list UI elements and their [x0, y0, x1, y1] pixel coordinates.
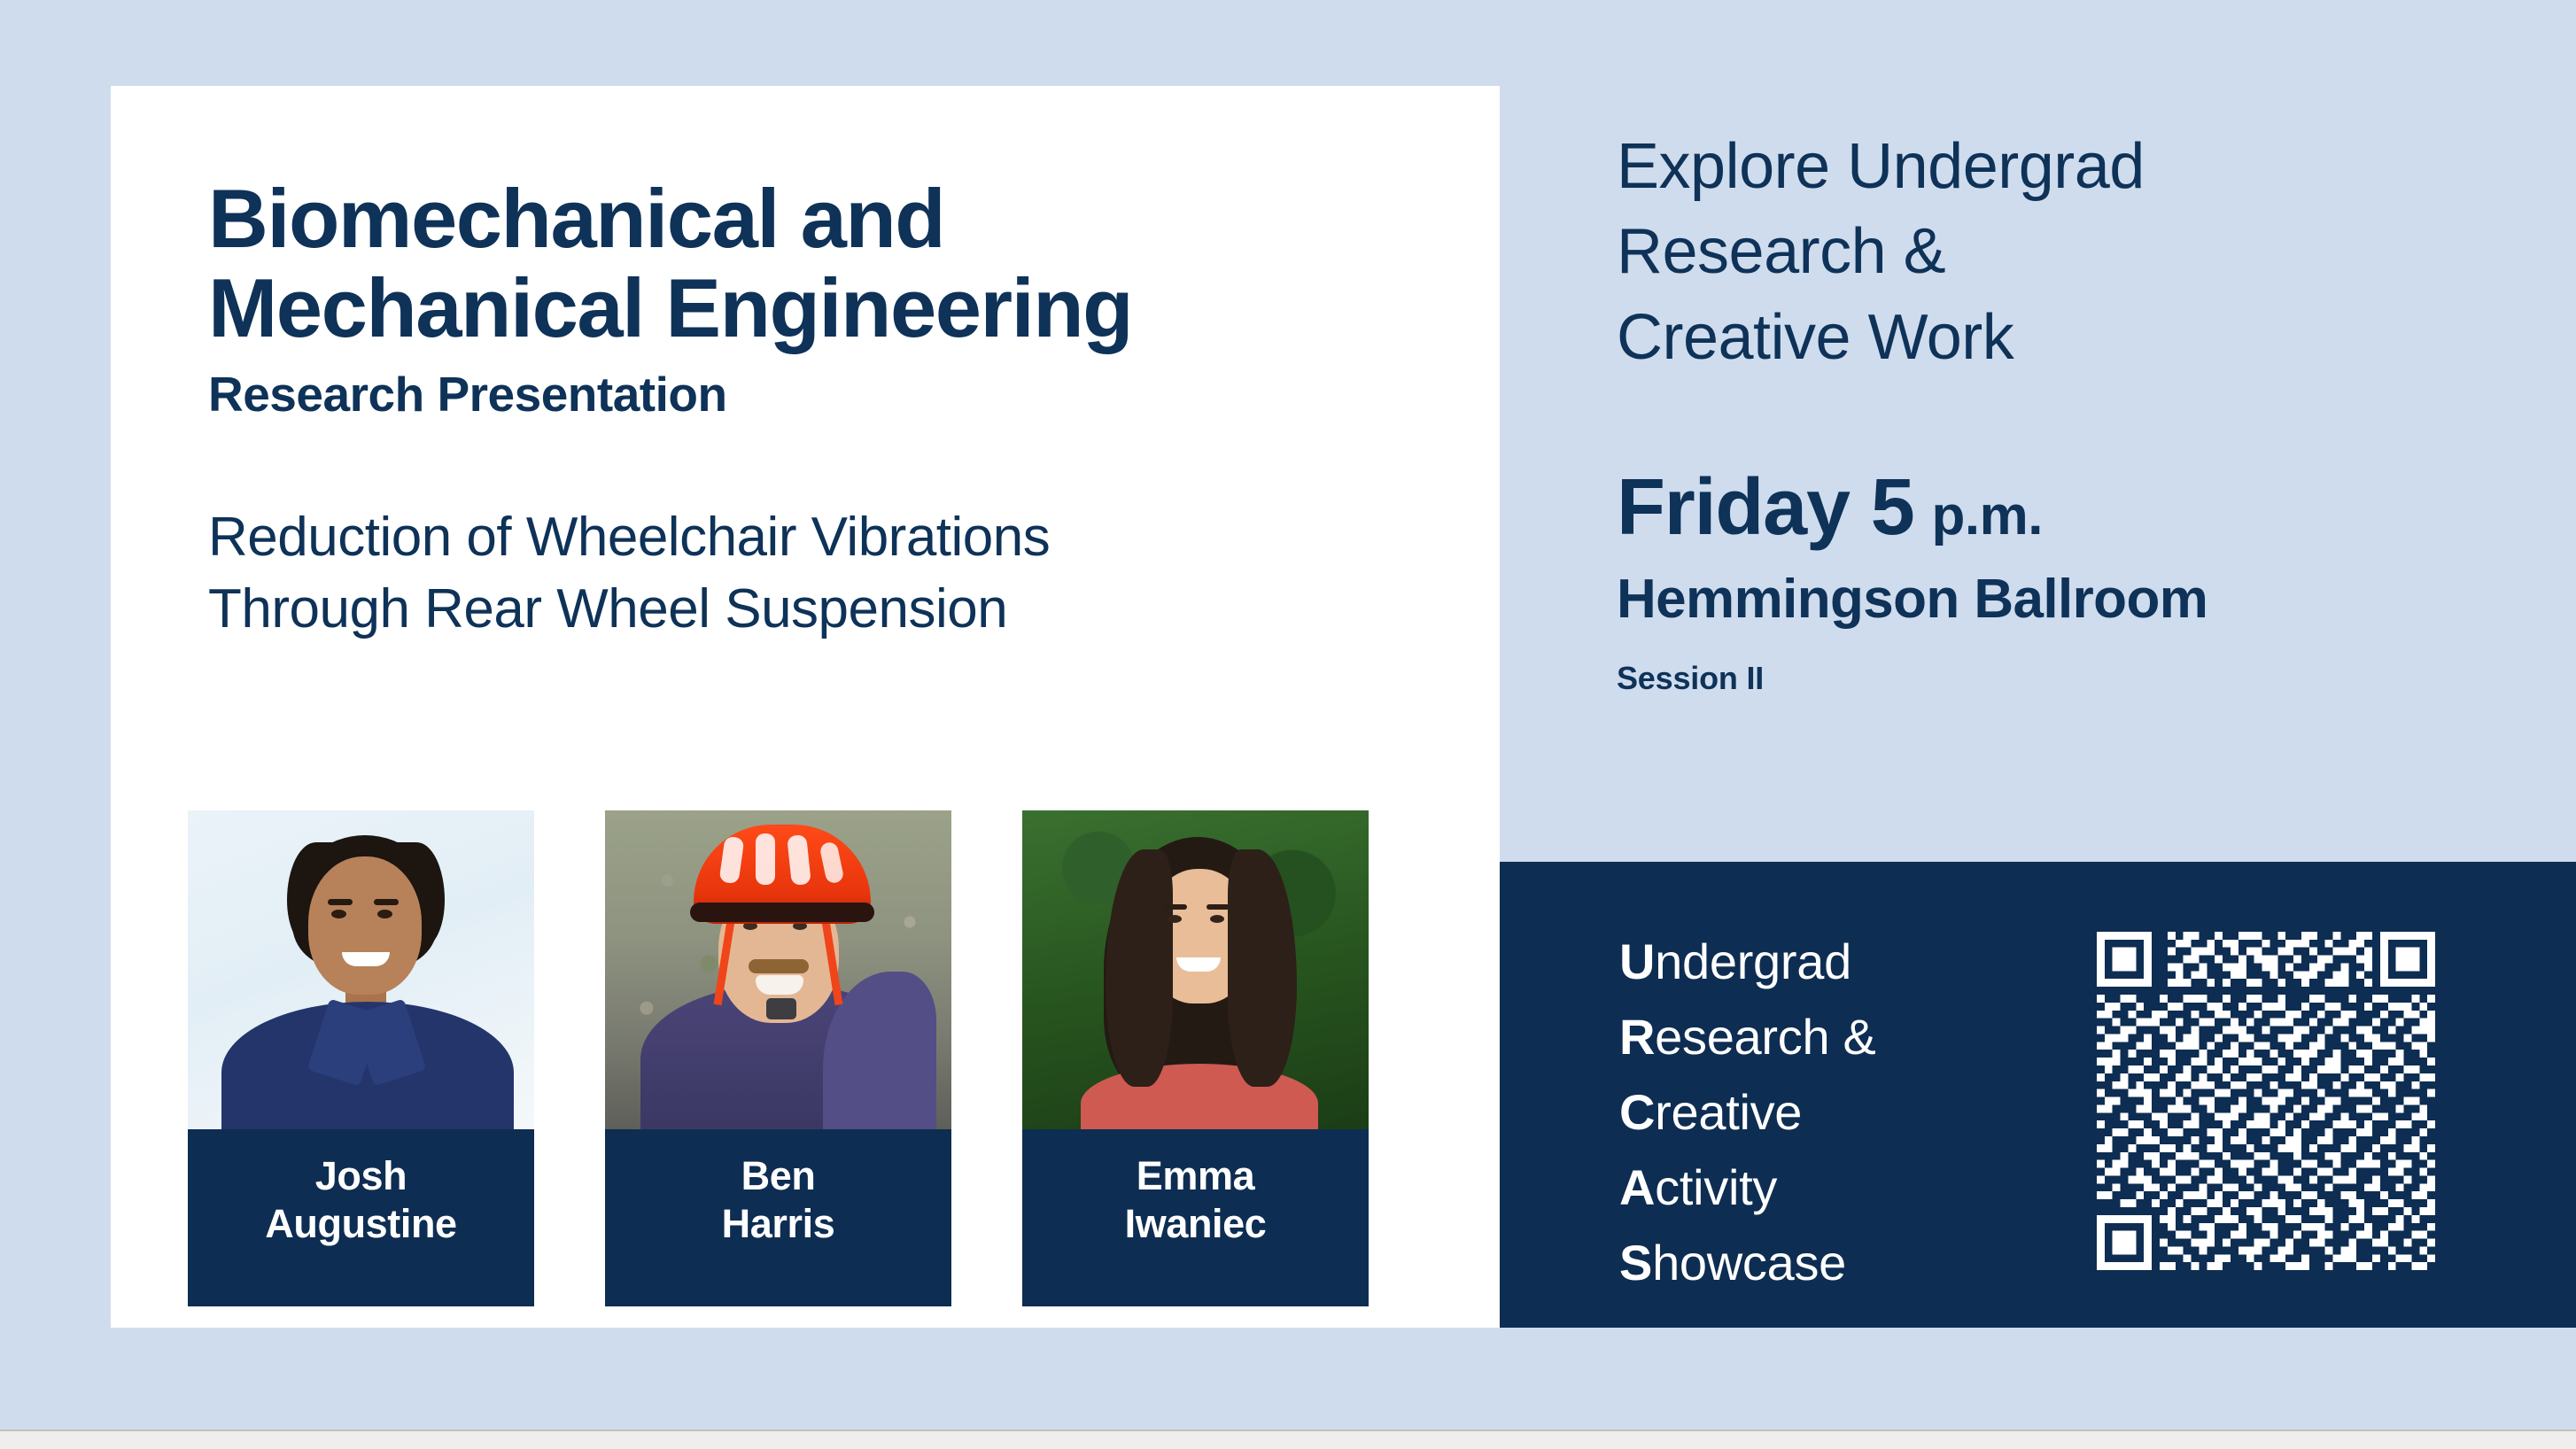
presenter-nameplate: Josh Augustine — [188, 1129, 534, 1306]
eyebrow-left — [1164, 904, 1187, 910]
page-title-line-2: Mechanical Engineering — [208, 264, 1448, 353]
eyebrow-right — [1207, 904, 1230, 910]
presenter-last-name: Harris — [722, 1200, 835, 1248]
presenter-last-name: Iwaniec — [1125, 1200, 1267, 1248]
acronym-line-showcase: Showcase — [1619, 1225, 1876, 1300]
acronym-rest-activity: ctivity — [1655, 1159, 1777, 1215]
project-title-line-2: Through Rear Wheel Suspension — [208, 574, 1493, 646]
project-title-block: Reduction of Wheelchair Vibrations Throu… — [208, 502, 1493, 645]
event-headline-line-3: Creative Work — [1617, 295, 2502, 380]
presenter-first-name: Ben — [741, 1152, 816, 1200]
eyebrow-right — [374, 899, 399, 905]
face-shape — [308, 856, 422, 995]
acronym-rest-showcase: howcase — [1652, 1235, 1846, 1290]
acronym-rest-undergrad: ndergrad — [1655, 934, 1851, 989]
acronym-initial-r: R — [1619, 1009, 1655, 1065]
presenter-nameplate: Ben Harris — [605, 1129, 951, 1306]
event-day-time: Friday 5 p.m. — [1617, 461, 2502, 554]
presenter-photo-emma-iwaniec — [1022, 810, 1369, 1129]
urcas-banner: Undergrad Research & Creative Activity S… — [1500, 862, 2576, 1328]
event-details: Friday 5 p.m. Hemmingson Ballroom Sessio… — [1617, 461, 2502, 697]
event-headline: Explore Undergrad Research & Creative Wo… — [1617, 124, 2502, 380]
presenter-photo-josh-augustine — [188, 810, 534, 1129]
urcas-acronym: Undergrad Research & Creative Activity S… — [1619, 924, 1876, 1301]
project-title-line-1: Reduction of Wheelchair Vibrations — [208, 502, 1493, 574]
eye-right — [1210, 915, 1224, 923]
presentation-slide: Biomechanical and Mechanical Engineering… — [0, 0, 2576, 1449]
presenter-list: Josh Augustine — [188, 810, 1369, 1306]
acronym-initial-c: C — [1619, 1084, 1655, 1140]
presenter-last-name: Augustine — [265, 1200, 456, 1248]
qr-code-icon[interactable] — [2080, 924, 2452, 1278]
smile-shape — [342, 952, 390, 966]
acronym-line-activity: Activity — [1619, 1150, 1876, 1225]
eye-left — [1168, 915, 1182, 923]
presenter-card: Emma Iwaniec — [1022, 810, 1369, 1306]
acronym-initial-a: A — [1619, 1159, 1655, 1215]
acronym-initial-u: U — [1619, 934, 1655, 989]
acronym-line-research: Research & — [1619, 999, 1876, 1074]
page-title-line-1: Biomechanical and — [208, 174, 1448, 264]
eyebrow-left — [328, 899, 353, 905]
event-day: Friday 5 — [1617, 461, 1914, 554]
presenter-card: Josh Augustine — [188, 810, 534, 1306]
acronym-initial-s: S — [1619, 1235, 1652, 1290]
title-block: Biomechanical and Mechanical Engineering… — [208, 174, 1448, 423]
acronym-rest-research: esearch & — [1655, 1009, 1875, 1065]
event-location: Hemmingson Ballroom — [1617, 567, 2502, 632]
presenter-nameplate: Emma Iwaniec — [1022, 1129, 1369, 1306]
moustache-shape — [749, 959, 809, 973]
presenter-photo-ben-harris — [605, 810, 951, 1129]
acronym-rest-creative: reative — [1655, 1084, 1802, 1140]
presenter-first-name: Emma — [1137, 1152, 1254, 1200]
presentation-card: Biomechanical and Mechanical Engineering… — [111, 86, 1500, 1328]
acronym-line-undergrad: Undergrad — [1619, 924, 1876, 999]
eye-right — [377, 910, 392, 918]
presenter-card: Ben Harris — [605, 810, 951, 1306]
bottom-edge-strip — [0, 1430, 2576, 1449]
presenter-first-name: Josh — [315, 1152, 407, 1200]
event-time-suffix: p.m. — [1932, 484, 2043, 548]
event-session: Session II — [1617, 660, 2502, 697]
page-subtitle: Research Presentation — [208, 365, 1448, 423]
acronym-line-creative: Creative — [1619, 1074, 1876, 1150]
smile-shape — [756, 975, 803, 995]
event-headline-line-1: Explore Undergrad — [1617, 124, 2502, 209]
event-headline-line-2: Research & — [1617, 209, 2502, 294]
helmet-vent — [756, 833, 775, 885]
helmet-buckle — [766, 998, 796, 1019]
sunglasses-shape — [690, 903, 874, 922]
eye-left — [331, 910, 346, 918]
